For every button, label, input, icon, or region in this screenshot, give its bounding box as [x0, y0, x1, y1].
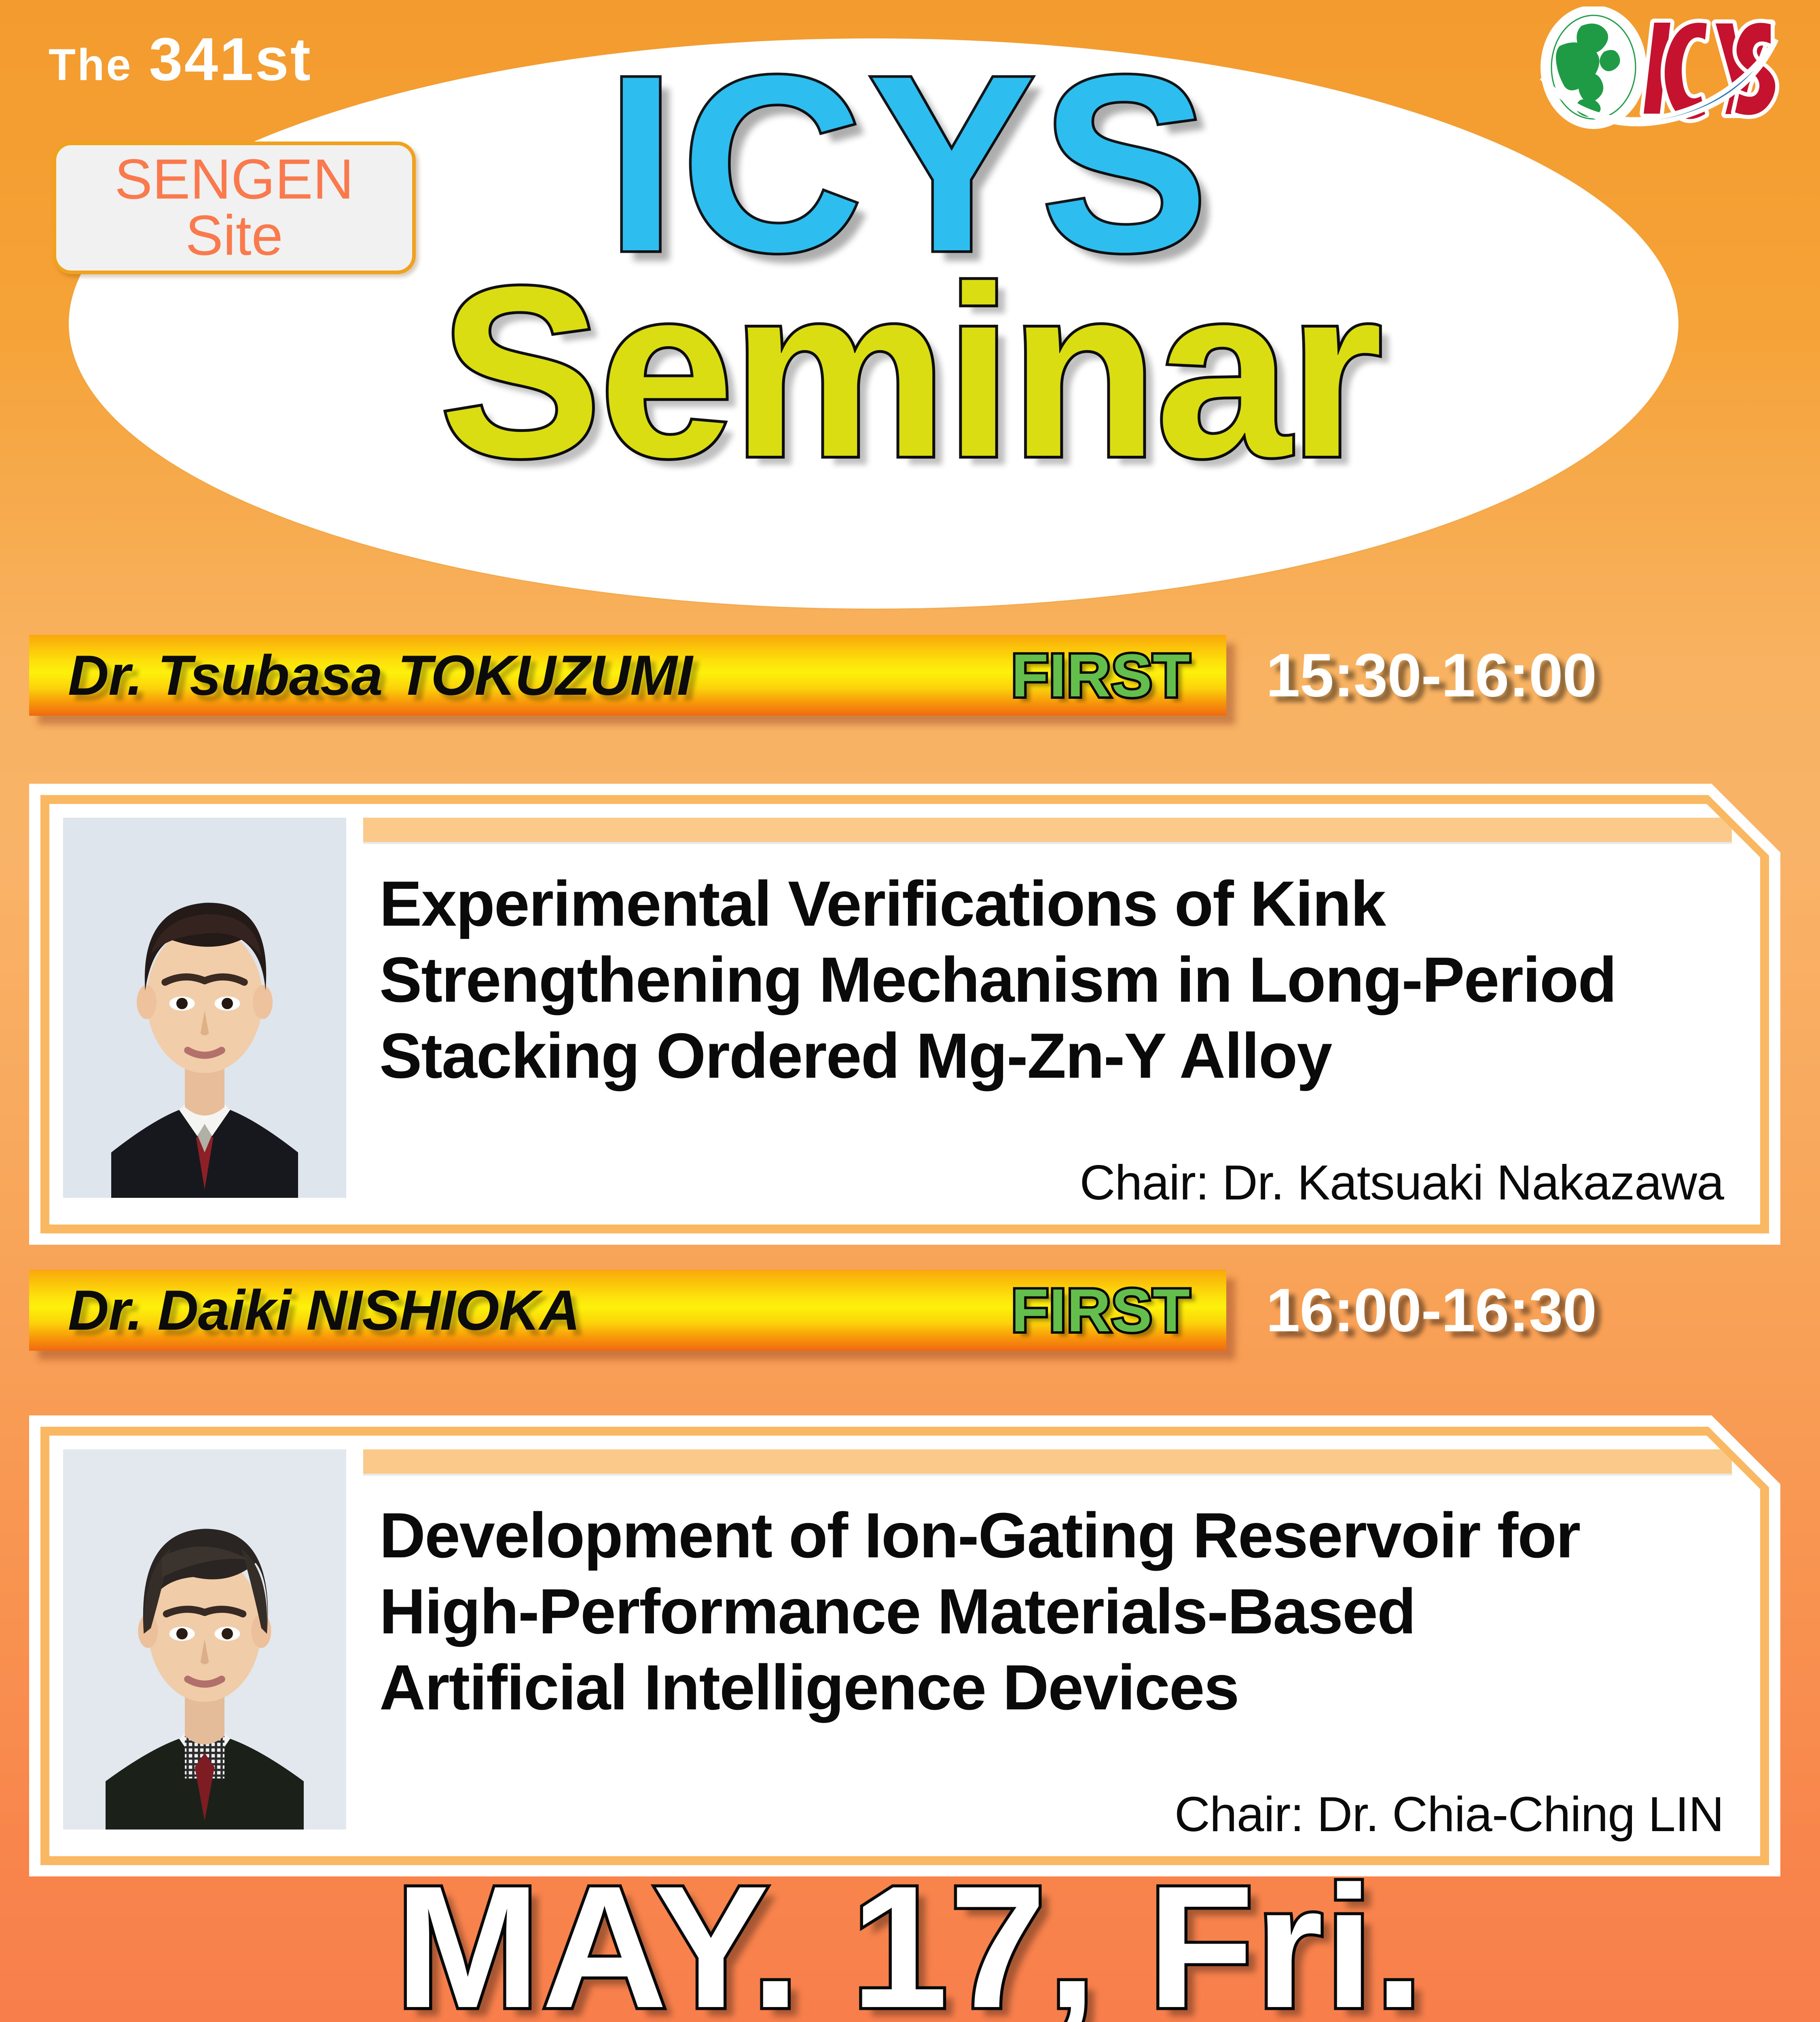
talk-accent-band-1	[363, 818, 1732, 844]
talk-title-2: Development of Ion-Gating Reservoir for …	[379, 1497, 1724, 1726]
talk-title-2-line-2: High-Performance Materials-Based	[379, 1574, 1724, 1650]
talk-panel-1: Experimental Verifications of Kink Stren…	[29, 784, 1780, 1245]
talk-time-1: 15:30-16:00	[1266, 635, 1596, 716]
speaker-name-1: Dr. Tsubasa TOKUZUMI	[68, 643, 692, 708]
talk-title-1-line-1: Experimental Verifications of Kink	[379, 866, 1724, 942]
photo-wrap-2	[49, 1436, 357, 1856]
talk-panel-2-face: Development of Ion-Gating Reservoir for …	[49, 1436, 1760, 1856]
speaker-bar-1: Dr. Tsubasa TOKUZUMI FIRST	[29, 635, 1226, 716]
speaker-name-2: Dr. Daiki NISHIOKA	[68, 1277, 580, 1343]
portrait-photo-1	[63, 818, 346, 1198]
talk-title-2-line-1: Development of Ion-Gating Reservoir for	[379, 1497, 1724, 1574]
icys-globe-logo	[1533, 6, 1784, 132]
talk-time-2: 16:00-16:30	[1266, 1270, 1596, 1351]
site-badge-line1: SENGEN	[114, 151, 353, 207]
talk-panel-1-face: Experimental Verifications of Kink Stren…	[49, 804, 1760, 1225]
speaker-bar-2: Dr. Daiki NISHIOKA FIRST	[29, 1270, 1226, 1351]
page-title-seminar: Seminar	[0, 251, 1820, 493]
talk-body-1: Experimental Verifications of Kink Stren…	[363, 844, 1732, 1225]
talk-title-1-line-2: Strengthening Mechanism in Long-Period	[379, 942, 1724, 1018]
event-date: MAY. 17, Fri.	[0, 1860, 1820, 2022]
talk-title-2-line-3: Artificial Intelligence Devices	[379, 1650, 1724, 1726]
talk-chair-2: Chair: Dr. Chia-Ching LIN	[379, 1786, 1724, 1856]
talk-col-2: Development of Ion-Gating Reservoir for …	[357, 1436, 1760, 1856]
talk-chair-1: Chair: Dr. Katsuaki Nakazawa	[379, 1154, 1724, 1225]
portrait-photo-2	[63, 1449, 346, 1830]
first-badge-2: FIRST	[1012, 1275, 1191, 1345]
talk-col-1: Experimental Verifications of Kink Stren…	[357, 804, 1760, 1225]
talk-panel-2-border: Development of Ion-Gating Reservoir for …	[40, 1427, 1769, 1865]
talk-body-2: Development of Ion-Gating Reservoir for …	[363, 1476, 1732, 1856]
site-badge-line2: Site	[185, 207, 283, 264]
talk-title-1: Experimental Verifications of Kink Stren…	[379, 866, 1724, 1094]
seminar-poster: The 341st SENGEN Site ICYS Seminar Dr. T…	[0, 0, 1820, 2022]
site-badge: SENGEN Site	[53, 142, 416, 274]
talk-accent-band-2	[363, 1449, 1732, 1476]
talk-panel-1-border: Experimental Verifications of Kink Stren…	[40, 795, 1769, 1233]
first-badge-1: FIRST	[1012, 641, 1191, 711]
talk-panel-2: Development of Ion-Gating Reservoir for …	[29, 1415, 1780, 1876]
talk-title-1-line-3: Stacking Ordered Mg-Zn-Y Alloy	[379, 1018, 1724, 1094]
photo-wrap-1	[49, 804, 357, 1225]
